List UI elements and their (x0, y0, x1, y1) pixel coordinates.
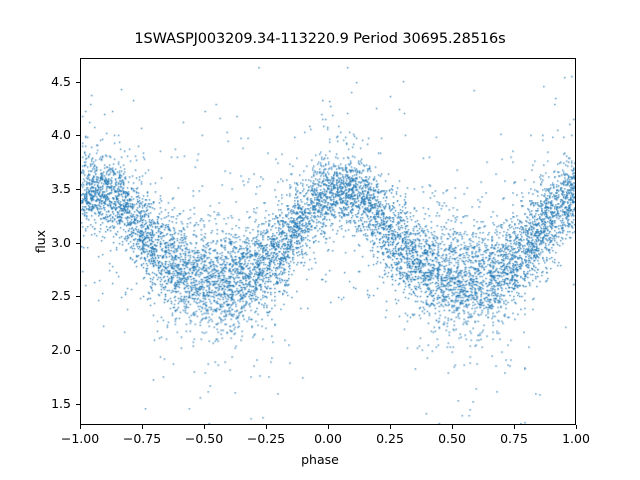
x-tick-mark (390, 425, 391, 429)
y-axis-label: flux (33, 58, 53, 425)
x-tick-label: −0.50 (169, 431, 239, 446)
x-tick-label: −1.00 (45, 431, 115, 446)
y-tick-mark (76, 404, 80, 405)
figure-canvas: 1SWASPJ003209.34-113220.9 Period 30695.2… (0, 0, 640, 480)
x-tick-label: 0.25 (355, 431, 425, 446)
scatter-plot-canvas (81, 59, 575, 424)
x-tick-label: −0.75 (107, 431, 177, 446)
x-tick-mark (514, 425, 515, 429)
y-tick-mark (76, 296, 80, 297)
x-tick-label: 0.00 (293, 431, 363, 446)
x-tick-label: 0.50 (417, 431, 487, 446)
y-tick-mark (76, 189, 80, 190)
y-tick-mark (76, 82, 80, 83)
chart-title: 1SWASPJ003209.34-113220.9 Period 30695.2… (0, 31, 640, 47)
plot-axes-area (80, 58, 576, 425)
x-tick-mark (576, 425, 577, 429)
x-tick-label: 0.75 (479, 431, 549, 446)
y-tick-mark (76, 135, 80, 136)
x-axis-label: phase (0, 452, 640, 467)
x-tick-mark (142, 425, 143, 429)
x-tick-mark (266, 425, 267, 429)
x-tick-label: −0.25 (231, 431, 301, 446)
y-tick-mark (76, 243, 80, 244)
x-tick-mark (328, 425, 329, 429)
x-tick-mark (204, 425, 205, 429)
x-tick-mark (80, 425, 81, 429)
y-tick-mark (76, 350, 80, 351)
x-tick-label: 1.00 (541, 431, 611, 446)
x-tick-mark (452, 425, 453, 429)
